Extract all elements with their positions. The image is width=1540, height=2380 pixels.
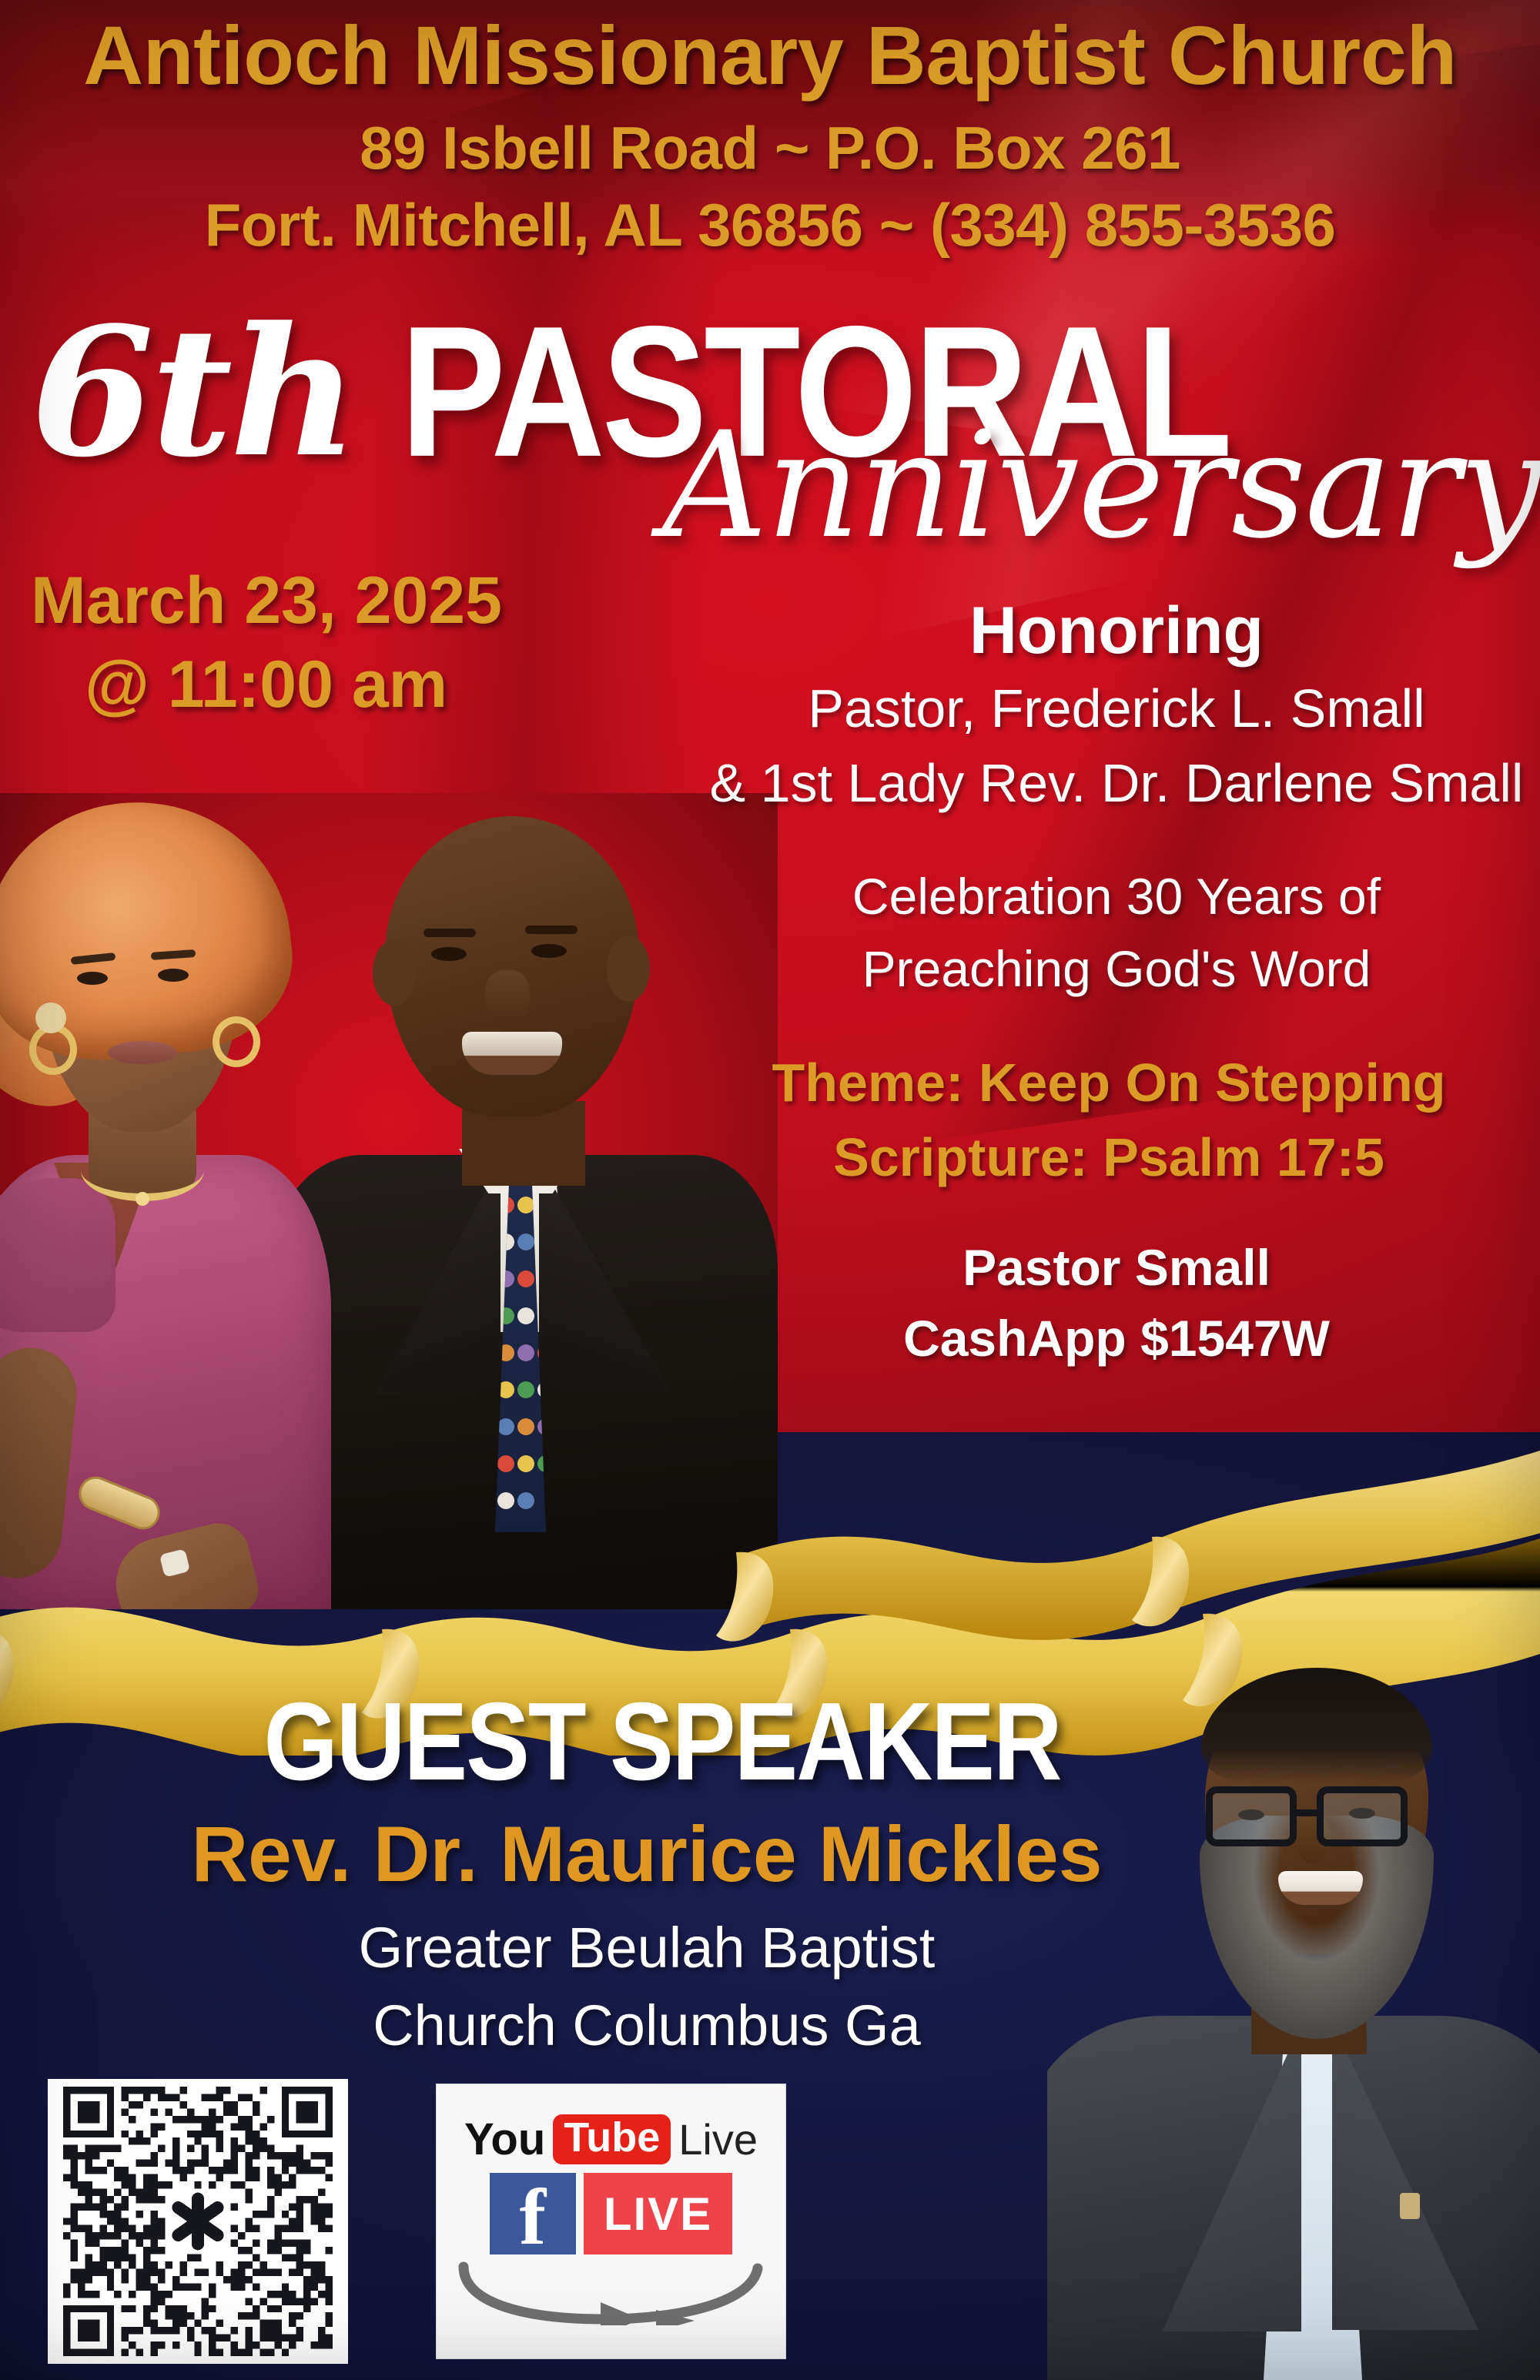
anniversary-ordinal: 6th bbox=[31, 289, 431, 497]
guest-church-line-2: Church Columbus Ga bbox=[154, 1987, 1140, 2065]
live-badge: LIVE bbox=[584, 2173, 732, 2254]
youtube-live-text: Live bbox=[678, 2114, 758, 2164]
pastor-ear-right bbox=[607, 936, 650, 1002]
celebration-line-1: Celebration 30 Years of bbox=[693, 861, 1540, 933]
facebook-icon: f bbox=[490, 2173, 576, 2254]
facebook-f-glyph: f bbox=[519, 2181, 546, 2254]
pastor-brow-left bbox=[423, 929, 476, 937]
giving-handle: CashApp $1547W bbox=[693, 1303, 1540, 1374]
pastor-brow-right bbox=[525, 926, 577, 934]
honoree-pastor: Pastor, Frederick L. Small bbox=[693, 671, 1540, 746]
honoring-label: Honoring bbox=[708, 593, 1525, 669]
first-lady-pendant bbox=[136, 1192, 149, 1206]
facebook-live-row: f LIVE bbox=[490, 2173, 732, 2254]
guest-speaker-church: Greater Beulah Baptist Church Columbus G… bbox=[154, 1910, 1140, 2064]
qr-code[interactable] bbox=[48, 2079, 348, 2364]
first-lady-earring-stud bbox=[35, 1003, 66, 1033]
speaker-lapel-pin bbox=[1400, 2193, 1420, 2219]
guest-church-line-1: Greater Beulah Baptist bbox=[154, 1910, 1140, 1987]
giving-block: Pastor Small CashApp $1547W bbox=[693, 1232, 1540, 1374]
necktie-dot bbox=[517, 1270, 534, 1287]
speaker-hair bbox=[1201, 1668, 1432, 1783]
necktie-dot bbox=[517, 1234, 534, 1250]
pastor-eye-left bbox=[431, 947, 467, 961]
giving-name: Pastor Small bbox=[693, 1232, 1540, 1303]
pastor-nose bbox=[485, 970, 530, 1026]
celebration-line-2: Preaching God's Word bbox=[693, 933, 1540, 1006]
necktie-dot bbox=[517, 1307, 534, 1324]
celebration-block: Celebration 30 Years of Preaching God's … bbox=[693, 861, 1540, 1005]
theme-line: Theme: Keep On Stepping bbox=[678, 1046, 1540, 1120]
youtube-you-text: You bbox=[464, 2114, 545, 2165]
youtube-tube-badge: Tube bbox=[553, 2114, 671, 2164]
first-lady-shoulder bbox=[0, 1178, 115, 1332]
event-date: March 23, 2025 bbox=[31, 562, 616, 640]
honoree-block: Pastor, Frederick L. Small & 1st Lady Re… bbox=[693, 671, 1540, 820]
eyeglasses-bridge bbox=[1297, 1809, 1320, 1816]
honoree-first-lady: & 1st Lady Rev. Dr. Darlene Small bbox=[693, 746, 1540, 821]
scripture-line: Scripture: Psalm 17:5 bbox=[678, 1120, 1540, 1195]
first-lady-eye-left bbox=[77, 972, 108, 985]
youtube-live-row: You Tube Live bbox=[464, 2114, 758, 2165]
first-lady-lips bbox=[108, 1041, 177, 1064]
necktie-dot bbox=[517, 1197, 534, 1213]
first-lady-eye-right bbox=[158, 969, 189, 982]
event-time: @ 11:00 am bbox=[85, 647, 670, 723]
refresh-arrow-svg bbox=[450, 2254, 773, 2325]
pastor-eye-right bbox=[531, 944, 567, 958]
eyeglasses-icon-right bbox=[1317, 1786, 1408, 1846]
circular-arrow-icon bbox=[450, 2254, 773, 2329]
title-anniversary: Anniversary bbox=[431, 400, 1540, 571]
church-address-line-1: 89 Isbell Road ~ P.O. Box 261 bbox=[0, 115, 1540, 182]
first-lady-earring-right bbox=[213, 1016, 260, 1067]
speaker-smile bbox=[1278, 1871, 1363, 1905]
church-address-line-2: Fort. Mitchell, AL 36856 ~ (334) 855-353… bbox=[0, 192, 1540, 259]
theme-block: Theme: Keep On Stepping Scripture: Psalm… bbox=[678, 1046, 1540, 1194]
guest-speaker-title: GUEST SPEAKER bbox=[231, 1679, 1093, 1806]
eyeglasses-icon-left bbox=[1206, 1786, 1297, 1846]
flyer-poster: Antioch Missionary Baptist Church 89 Isb… bbox=[0, 0, 1540, 2380]
guest-speaker-name: Rev. Dr. Maurice Mickles bbox=[139, 1809, 1155, 1900]
qr-code-matrix bbox=[55, 2087, 340, 2356]
livestream-badge[interactable]: You Tube Live f LIVE bbox=[436, 2084, 786, 2359]
pastor-ear-left bbox=[373, 939, 416, 1006]
pastor-smile bbox=[462, 1032, 562, 1075]
church-name: Antioch Missionary Baptist Church bbox=[0, 11, 1540, 101]
